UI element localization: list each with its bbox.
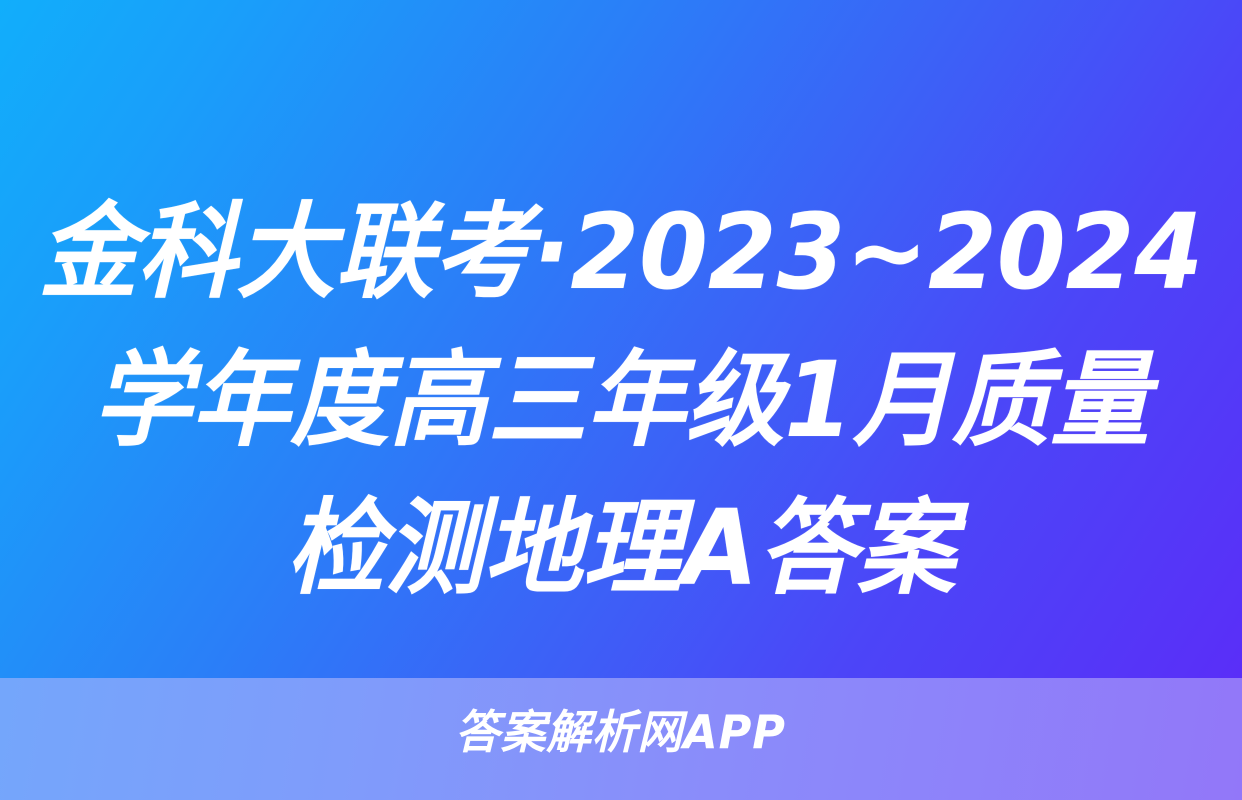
poster-title-block: 金科大联考·2023~2024 学年度高三年级1月质量 检测地理A答案 [0,178,1242,622]
site-watermark-label: 答案解析网APP [456,706,787,758]
title-line-3: 检测地理A答案 [31,474,1211,622]
poster-canvas: 金科大联考·2023~2024 学年度高三年级1月质量 检测地理A答案 答案解析… [0,0,1242,800]
title-line-1: 金科大联考·2023~2024 [31,178,1211,326]
footer-watermark-band: 答案解析网APP [0,678,1242,800]
title-line-2: 学年度高三年级1月质量 [31,326,1211,474]
